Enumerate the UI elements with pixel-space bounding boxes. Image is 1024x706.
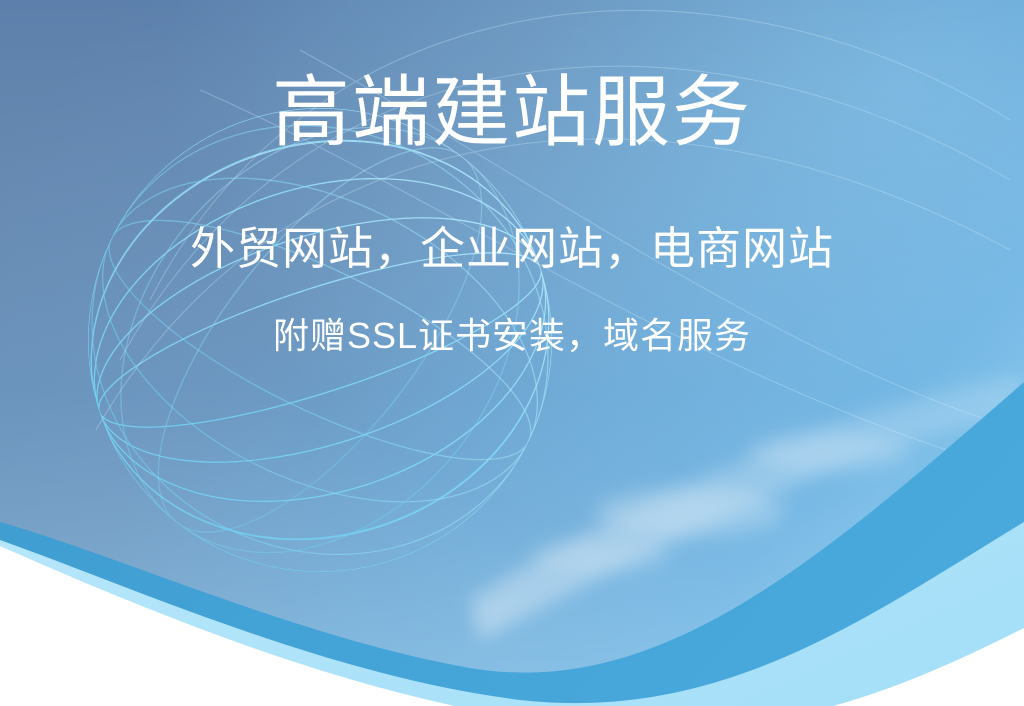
promo-banner: 高端建站服务 外贸网站，企业网站，电商网站 附赠SSL证书安装，域名服务 bbox=[0, 0, 1024, 706]
wave-shapes-svg bbox=[0, 0, 1024, 706]
wave-layer bbox=[0, 0, 1024, 706]
